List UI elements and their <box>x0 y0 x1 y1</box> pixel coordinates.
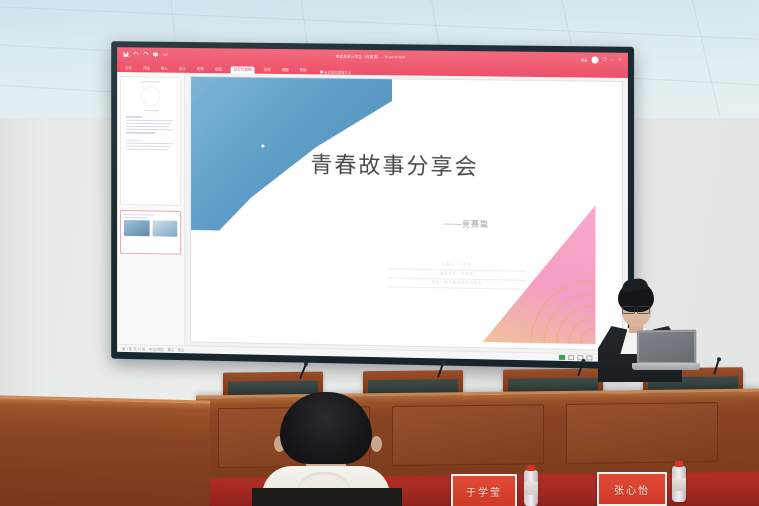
slide-sorter-icon[interactable] <box>568 355 574 360</box>
eyeglasses-icon <box>622 306 650 312</box>
lightbulb-icon <box>320 70 323 73</box>
restore-button[interactable]: ❐ <box>603 58 607 62</box>
projection-screen: 青春故事分享会（竞赛篇） - PowerPoint 登录 ❐ — ✕ 文件 开始… <box>117 47 628 362</box>
nameplate-text: 于学莹 <box>466 484 502 499</box>
laptop <box>632 330 700 374</box>
slideshow-view-icon[interactable] <box>586 355 592 360</box>
slide-indicator: 第 1 张, 共 12 张 <box>122 346 145 351</box>
slide-canvas-area[interactable]: 青春故事分享会 ——竞赛篇 汇报人：于学莹 指导老师：李老师 单位：电子信息科学… <box>185 73 628 354</box>
slide-thumbnail-pane[interactable] <box>117 72 185 345</box>
audience-hair <box>280 392 372 464</box>
audience-ear-right <box>371 436 382 452</box>
window-title: 青春故事分享会（竞赛篇） - PowerPoint <box>117 52 628 63</box>
thumb-image-right <box>152 221 177 237</box>
powerpoint-window: 青春故事分享会（竞赛篇） - PowerPoint 登录 ❐ — ✕ 文件 开始… <box>117 47 628 362</box>
account-label[interactable]: 登录 <box>581 57 587 62</box>
avatar[interactable] <box>591 56 598 63</box>
language-indicator[interactable]: 中文(中国) <box>149 347 164 352</box>
laptop-lid <box>637 330 696 365</box>
meta-line-department: 单位：电子信息科学与技术 <box>388 278 526 290</box>
white-dot-accent <box>261 144 264 147</box>
water-bottle <box>524 470 538 506</box>
list-item[interactable] <box>120 210 181 255</box>
comments-button[interactable]: 批注 <box>178 347 184 352</box>
thumb-image-left <box>124 220 149 236</box>
slide-title[interactable]: 青春故事分享会 <box>311 147 479 181</box>
close-button[interactable]: ✕ <box>618 58 621 62</box>
screenshot-root: 青春故事分享会（竞赛篇） - PowerPoint 登录 ❐ — ✕ 文件 开始… <box>0 0 759 506</box>
projection-screen-bezel: 青春故事分享会（竞赛篇） - PowerPoint 登录 ❐ — ✕ 文件 开始… <box>111 41 634 369</box>
notes-button[interactable]: 备注 <box>168 347 174 352</box>
editor-body: 青春故事分享会 ——竞赛篇 汇报人：于学莹 指导老师：李老师 单位：电子信息科学… <box>117 72 628 354</box>
minimize-button[interactable]: — <box>610 58 614 62</box>
list-item[interactable] <box>120 76 181 206</box>
nameplate-yu-xueying: 于学莹 <box>451 474 517 506</box>
nameplate-text: 张心怡 <box>614 482 650 497</box>
water-bottle <box>672 466 686 502</box>
laptop-keyboard-base <box>632 363 700 370</box>
left-desk-section <box>0 395 210 506</box>
nameplate-zhang-xinyi: 张心怡 <box>597 472 667 506</box>
audience-body <box>252 488 402 506</box>
normal-view-icon[interactable] <box>559 355 565 360</box>
audience-member <box>252 392 402 506</box>
seal-graphic <box>141 86 161 106</box>
current-slide[interactable]: 青春故事分享会 ——竞赛篇 汇报人：于学莹 指导老师：李老师 单位：电子信息科学… <box>191 77 622 350</box>
slide-meta-block[interactable]: 汇报人：于学莹 指导老师：李老师 单位：电子信息科学与技术 <box>388 260 526 290</box>
slide-subtitle[interactable]: ——竞赛篇 <box>444 218 489 230</box>
window-controls[interactable]: 登录 ❐ — ✕ <box>581 56 622 64</box>
